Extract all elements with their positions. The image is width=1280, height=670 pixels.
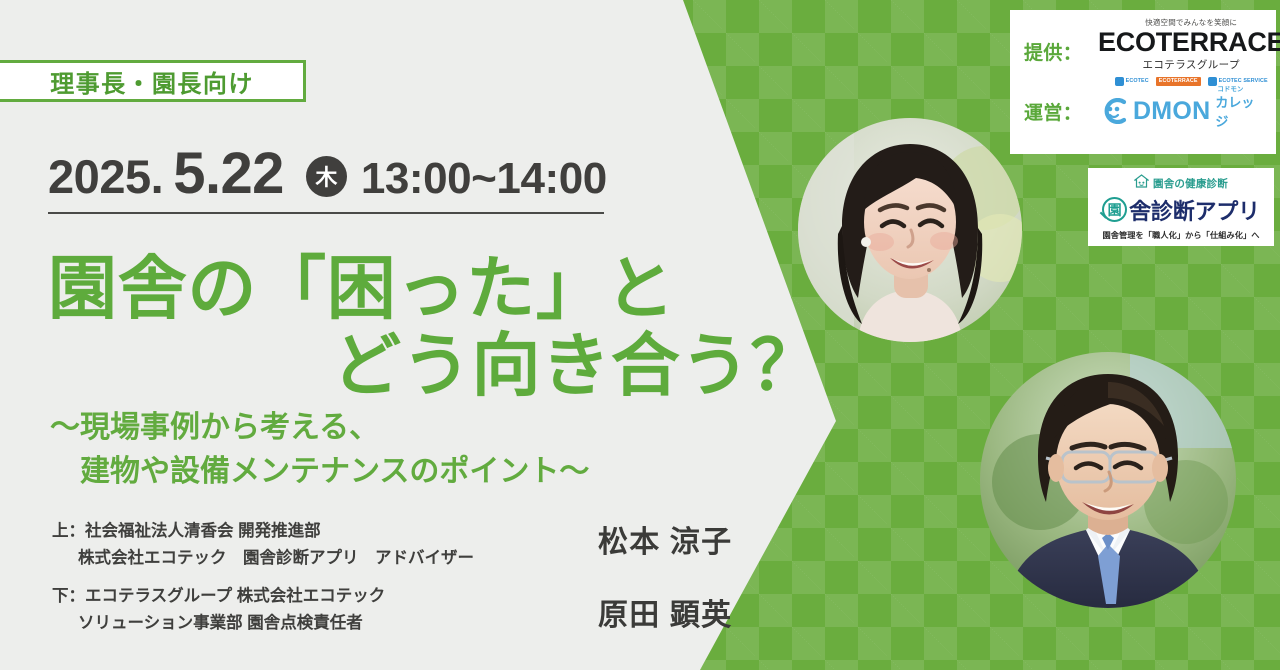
codmon-lockup: DMON コドモン カレッジ [1098,92,1264,130]
codmon-college-label: コドモン カレッジ [1215,92,1264,130]
house-check-icon [1134,174,1149,193]
speaker-credits: 上：社会福祉法人清香会 開発推進部 株式会社エコテック 園舎診断アプリ アドバイ… [52,518,572,649]
codmon-c-icon [1098,98,1128,124]
sub-logo-ecoterrace: ECOTERRACE [1156,77,1201,86]
ecotec-square-icon [1115,77,1124,86]
event-date-row: 2025. 5.22 木 13:00~14:00 [48,140,607,207]
ecoterrace-wordmark: ECOTERRACE [1098,28,1280,56]
page-title: 園舎の「困った」と どう向き合う？ [48,250,838,405]
event-time: 13:00~14:00 [361,154,607,204]
app-magnifier-en-icon: 園 [1102,197,1127,222]
sub-logo-ecoterrace-label: ECOTERRACE [1159,79,1198,85]
sub-logo-ecotec: ECOTEC [1115,77,1149,86]
operator-label: 運営： [1024,98,1098,125]
subtitle-line-2: 建物や設備メンテナンスのポイント〜 [50,450,790,494]
title-line-2: どう向き合う？ [48,327,838,404]
speaker-photo-matsumoto [798,118,1022,342]
credit-line-3: 下：エコテラスグループ 株式会社エコテック [52,583,572,610]
ecotec-service-square-icon [1208,77,1217,86]
day-of-week-badge: 木 [306,156,347,197]
codmon-ruby: コドモン [1217,83,1243,93]
speaker-name-2: 原田 顕英 [598,601,778,631]
ecoterrace-sub-logos: ECOTEC ECOTERRACE ECOTEC SERVICE [1115,77,1268,86]
speaker-names: 松本 涼子 原田 顕英 [598,528,778,631]
credit-line-4: ソリューション事業部 園舎点検責任者 [52,610,572,637]
event-month-day: 5.22 [173,140,284,207]
operator-row: 運営： DMON コドモン カレッジ [1024,92,1264,130]
app-badge-top-text: 園舎の健康診断 [1153,176,1228,191]
sponsor-card: 提供： 快適空間でみんなを笑顔に ECOTERRACE エコテラスグループ EC… [1010,10,1276,154]
speaker-name-1: 松本 涼子 [598,528,778,558]
divider-line [48,212,604,214]
provider-label: 提供： [1024,38,1098,65]
codmon-wordmark: DMON [1133,99,1210,124]
credit-line-1: 上：社会福祉法人清香会 開発推進部 [52,518,572,545]
page-subtitle: 〜現場事例から考える、 建物や設備メンテナンスのポイント〜 [50,406,790,493]
subtitle-line-1: 〜現場事例から考える、 [50,411,379,444]
event-year: 2025. [48,149,163,204]
audience-tag-label: 理事長・園長向け [50,64,254,99]
credit-line-2: 株式会社エコテック 園舎診断アプリ アドバイザー [52,545,572,572]
app-badge-main-text: 舎診断アプリ [1129,194,1260,226]
speaker-photo-harada [980,352,1236,608]
sub-logo-ecotec-label: ECOTEC [1126,79,1149,85]
ecoterrace-logo: 快適空間でみんなを笑顔に ECOTERRACE エコテラスグループ ECOTEC… [1098,17,1280,86]
webinar-banner: 理事長・園長向け 2025. 5.22 木 13:00~14:00 園舎の「困っ… [0,0,1280,670]
codmon-college-text: カレッジ [1215,95,1254,129]
credit-block-lower: 下：エコテラスグループ 株式会社エコテック ソリューション事業部 園舎点検責任者 [52,583,572,636]
provider-row: 提供： 快適空間でみんなを笑顔に ECOTERRACE エコテラスグループ EC… [1024,17,1264,86]
app-badge: 園舎の健康診断 園 舎診断アプリ 園舎管理を「職人化」から「仕組み化」へ [1088,168,1274,246]
app-badge-main-row: 園 舎診断アプリ [1102,194,1260,226]
ecoterrace-kana: エコテラスグループ [1142,57,1239,72]
app-badge-top-row: 園舎の健康診断 [1134,174,1228,193]
credit-block-upper: 上：社会福祉法人清香会 開発推進部 株式会社エコテック 園舎診断アプリ アドバイ… [52,518,572,571]
audience-tag: 理事長・園長向け [0,60,306,102]
codmon-logo: DMON コドモン カレッジ [1098,92,1264,130]
app-badge-bottom-text: 園舎管理を「職人化」から「仕組み化」へ [1102,229,1259,241]
title-line-1: 園舎の「困った」と [48,250,838,327]
